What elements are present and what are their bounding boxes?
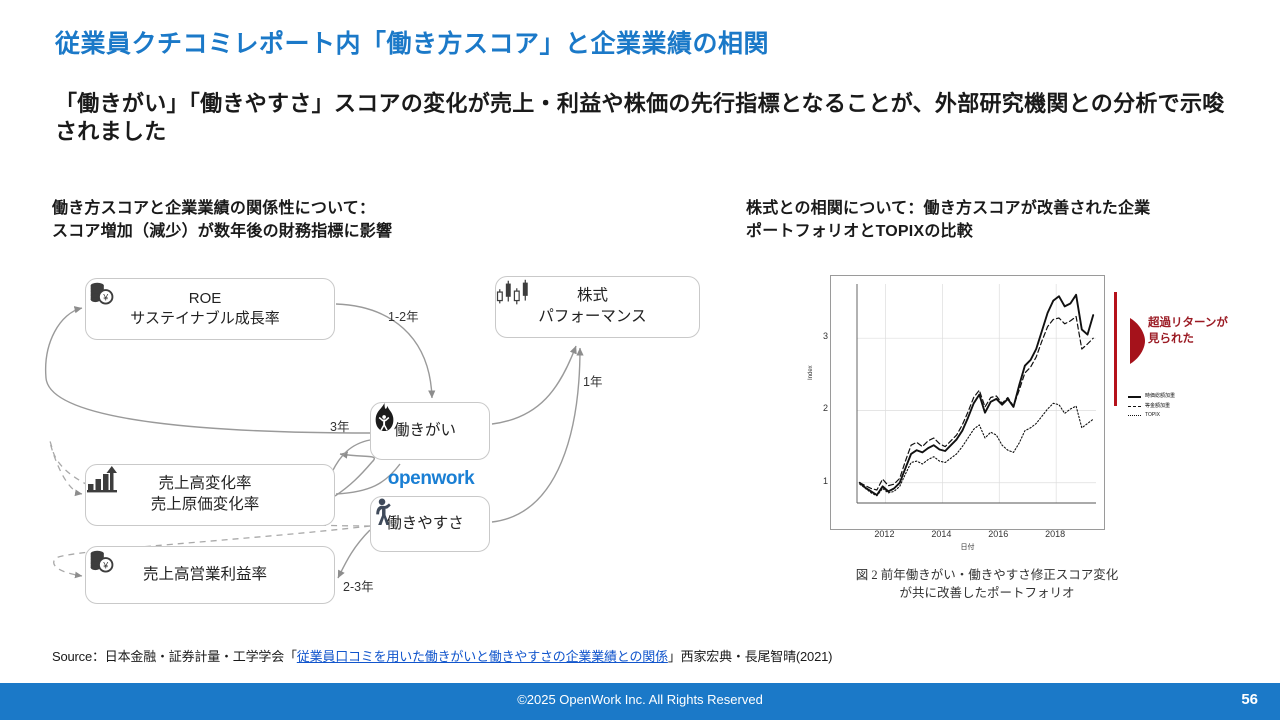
legend-label: 時価総額加重 xyxy=(1145,392,1175,402)
stock-index-chart: Index 日付 123 2012201420162018 時価総額加重等金額加… xyxy=(812,270,1142,560)
diagram-node-operating-margin: 売上高営業利益率 ¥ xyxy=(85,546,335,604)
excess-return-arrow-icon xyxy=(1130,318,1146,369)
slide-root: 従業員クチコミレポート内「働き方スコア」と企業業績の相関 「働きがい」「働きやす… xyxy=(0,0,1280,720)
chart-x-tick: 2018 xyxy=(1042,529,1068,539)
diagram-node-stock-performance: 株式 パフォーマンス xyxy=(495,276,700,338)
chart-y-tick: 2 xyxy=(812,403,828,413)
source-link[interactable]: 従業員口コミを用いた働きがいと働きやすさの企業業績との関係 xyxy=(297,649,668,664)
chart-y-tick: 3 xyxy=(812,331,828,341)
legend-key xyxy=(1128,406,1141,407)
lag-label-stock: 1年 xyxy=(583,371,602,390)
diagram-node-roe: ROE サステイナブル成長率 ¥ xyxy=(85,278,335,340)
chart-legend-item: 時価総額加重 xyxy=(1128,392,1175,402)
excess-return-marker xyxy=(1114,292,1117,406)
figure-caption: 図 2 前年働きがい・働きやすさ修正スコア変化 が共に改善したポートフォリオ xyxy=(812,566,1162,602)
node-label: 売上高営業利益率 xyxy=(143,565,267,586)
source-prefix: Source：日本金融・証券計量・工学学会「 xyxy=(52,649,297,664)
legend-key xyxy=(1128,396,1141,398)
openwork-logo: openwork xyxy=(370,468,492,490)
chart-y-tick: 1 xyxy=(812,476,828,486)
footer-copyright: ©2025 OpenWork Inc. All Rights Reserved xyxy=(0,692,1280,707)
slide-footer: ©2025 OpenWork Inc. All Rights Reserved … xyxy=(0,683,1280,720)
chart-x-tick: 2014 xyxy=(928,529,954,539)
legend-label: TOPIX xyxy=(1145,411,1160,421)
svg-text:¥: ¥ xyxy=(102,293,108,303)
excess-return-annotation: 超過リターンが 見られた xyxy=(1148,316,1240,347)
chart-x-axis-label: 日付 xyxy=(812,542,1123,552)
node-label: 働きがい xyxy=(394,421,456,442)
lag-label-profit: 2-3年 xyxy=(343,576,374,595)
legend-key xyxy=(1128,415,1141,416)
relationship-diagram: ROE サステイナブル成長率 ¥ xyxy=(40,258,740,628)
chart-svg xyxy=(831,276,1104,529)
left-section-heading: 働き方スコアと企業業績の関係性について： スコア増加（減少）が数年後の財務指標に… xyxy=(52,198,672,243)
page-subtitle: 「働きがい」「働きやすさ」スコアの変化が売上・利益や株価の先行指標となることが、… xyxy=(55,90,1235,146)
source-suffix: 」西家宏典・長尾智晴(2021) xyxy=(668,649,832,664)
right-section-heading: 株式との相関について：働き方スコアが改善された企業ポートフォリオとTOPIXの比… xyxy=(746,198,1166,243)
lag-label-engagement: 3年 xyxy=(330,416,349,435)
node-label: 働きやすさ xyxy=(386,514,464,535)
source-citation: Source：日本金融・証券計量・工学学会「従業員口コミを用いた働きがいと働きや… xyxy=(52,646,832,665)
svg-text:¥: ¥ xyxy=(102,561,108,571)
page-number: 56 xyxy=(1241,691,1258,708)
chart-x-tick: 2016 xyxy=(985,529,1011,539)
node-label: 株式 パフォーマンス xyxy=(538,286,646,328)
chart-y-axis-label: Index xyxy=(808,365,814,380)
chart-plot-area xyxy=(830,275,1105,530)
lag-label-roe: 1-2年 xyxy=(388,306,419,325)
legend-label: 等金額加重 xyxy=(1145,402,1170,412)
diagram-node-sales: 売上高変化率 売上原価変化率 xyxy=(85,464,335,526)
chart-legend-item: 等金額加重 xyxy=(1128,402,1175,412)
node-label: 売上高変化率 売上原価変化率 xyxy=(151,474,260,516)
chart-legend-item: TOPIX xyxy=(1128,411,1175,421)
diagram-node-work-ease: 働きやすさ xyxy=(370,496,490,552)
diagram-node-engagement: 働きがい xyxy=(370,402,490,460)
page-title: 従業員クチコミレポート内「働き方スコア」と企業業績の相関 xyxy=(55,24,769,60)
chart-x-tick: 2012 xyxy=(871,529,897,539)
node-label: ROE サステイナブル成長率 xyxy=(130,289,279,329)
chart-legend: 時価総額加重等金額加重TOPIX xyxy=(1128,392,1175,421)
